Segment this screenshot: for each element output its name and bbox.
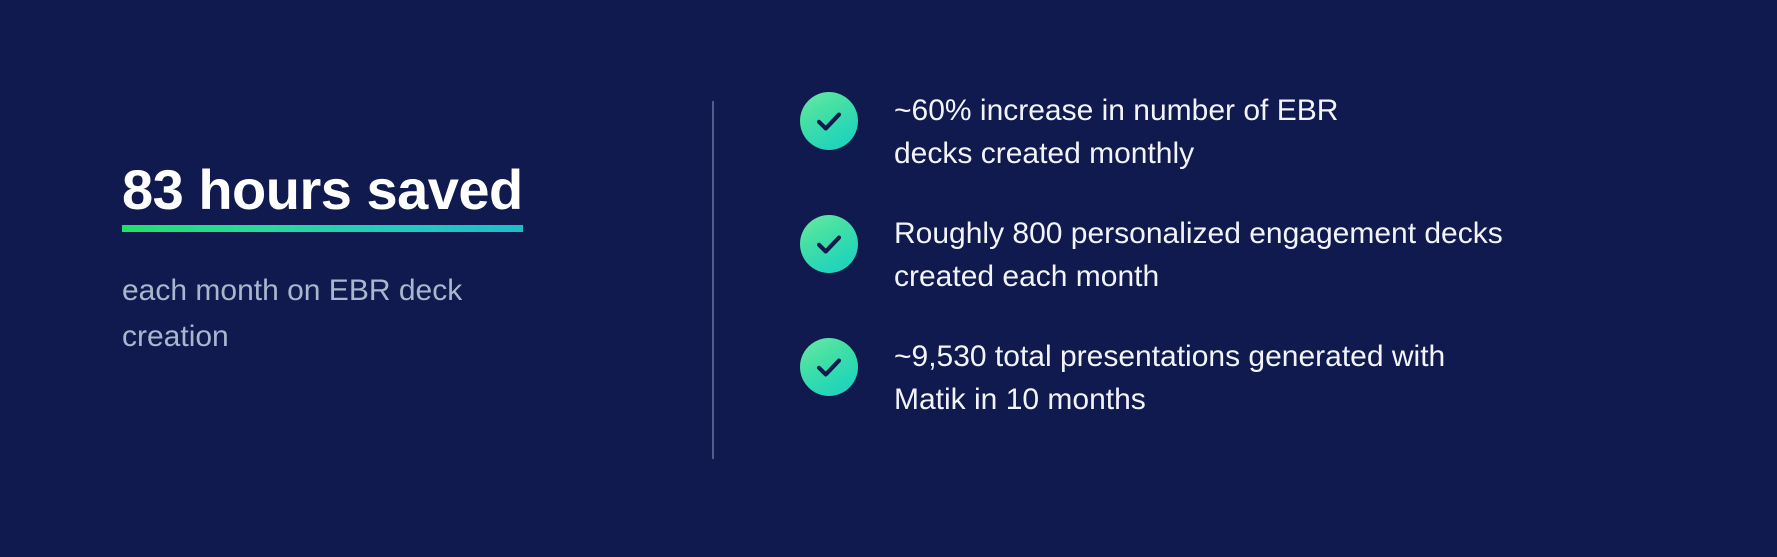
stat-headline: 83 hours saved (122, 160, 523, 220)
check-circle-icon (800, 338, 858, 396)
list-item: Roughly 800 personalized engagement deck… (800, 211, 1700, 298)
list-item-label: ~60% increase in number of EBR decks cre… (894, 88, 1338, 175)
stat-subtitle: each month on EBR deck creation (122, 268, 552, 359)
list-item-label: ~9,530 total presentations generated wit… (894, 334, 1445, 421)
check-circle-icon (800, 92, 858, 150)
list-item-label: Roughly 800 personalized engagement deck… (894, 211, 1503, 298)
list-item: ~60% increase in number of EBR decks cre… (800, 88, 1700, 175)
vertical-divider (712, 101, 714, 459)
benefits-list: ~60% increase in number of EBR decks cre… (800, 88, 1700, 422)
stat-headline-group: 83 hours saved (122, 160, 523, 232)
stat-underline-accent (122, 225, 523, 232)
check-circle-icon (800, 215, 858, 273)
list-item: ~9,530 total presentations generated wit… (800, 334, 1700, 421)
stat-panel: 83 hours saved each month on EBR deck cr… (122, 160, 642, 360)
stat-highlight-slide: 83 hours saved each month on EBR deck cr… (0, 0, 1777, 557)
